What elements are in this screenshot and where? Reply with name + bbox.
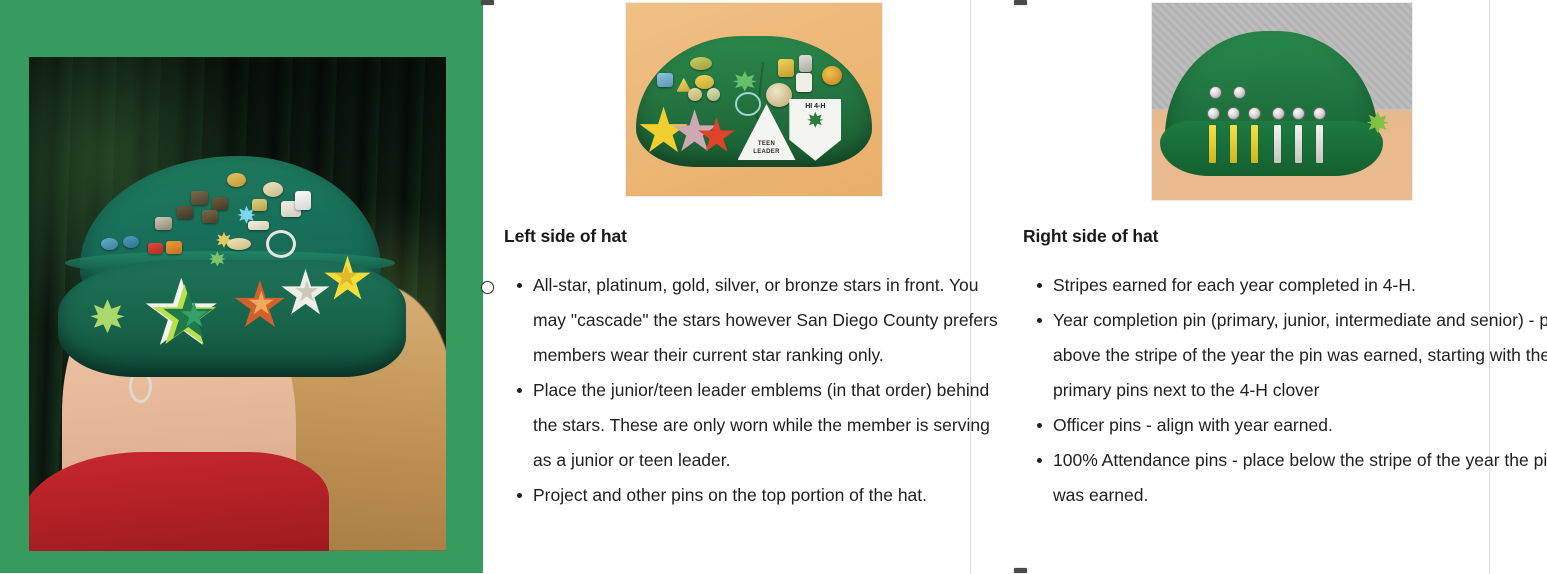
stripe-year-6 bbox=[1316, 125, 1323, 163]
shield-clover-icon bbox=[807, 112, 823, 128]
clover-pin-center bbox=[733, 71, 757, 91]
selection-handle-top-middle[interactable] bbox=[1014, 0, 1027, 5]
pin-white-clover-card bbox=[796, 73, 812, 92]
photo-4h-hat bbox=[58, 156, 417, 373]
pin-bronze-2 bbox=[212, 197, 228, 210]
hi-4h-shield-emblem: HI 4-H bbox=[789, 99, 841, 161]
pin-medal-cream bbox=[263, 182, 283, 197]
pin-orange-round bbox=[822, 66, 842, 85]
slide-page: TEEN LEADER HI 4-H Left side of hat All-… bbox=[0, 0, 1547, 574]
stripe-year-2 bbox=[1230, 125, 1237, 163]
pin-bronze-4 bbox=[202, 210, 218, 223]
teen-leader-line1: TEEN bbox=[758, 140, 775, 149]
shield-label: HI 4-H bbox=[805, 103, 825, 110]
list-item: Year completion pin (primary, junior, in… bbox=[1053, 303, 1547, 408]
pin-white-rect bbox=[799, 55, 812, 72]
pin-medal-gold bbox=[227, 173, 246, 187]
hero-photo-girl-wearing-hat[interactable] bbox=[29, 57, 446, 551]
pin-white-card bbox=[295, 191, 311, 210]
pin-bar-white bbox=[248, 221, 269, 230]
beret-band-right bbox=[1160, 121, 1384, 176]
stripe-year-5 bbox=[1295, 125, 1302, 163]
pin-primary-2 bbox=[1233, 86, 1246, 99]
pin-blue-patch bbox=[657, 73, 673, 87]
column-left-side-of-hat: TEEN LEADER HI 4-H Left side of hat All-… bbox=[487, 0, 1007, 574]
list-item: 100% Attendance pins - place below the s… bbox=[1053, 443, 1547, 513]
teen-leader-line2: LEADER bbox=[753, 148, 779, 157]
pin-medallion bbox=[766, 83, 792, 107]
pin-year-completion-1 bbox=[1207, 107, 1220, 120]
bullet-list-left: All-star, platinum, gold, silver, or bro… bbox=[499, 268, 1013, 513]
stripe-year-4 bbox=[1274, 125, 1281, 163]
list-item: Place the junior/teen leader emblems (in… bbox=[533, 373, 1013, 478]
pin-ring-white bbox=[266, 230, 296, 258]
pin-cream-round-1 bbox=[688, 88, 702, 101]
heading-right-side-of-hat: Right side of hat bbox=[1023, 226, 1158, 247]
photo-red-shirt bbox=[29, 452, 329, 551]
list-item: All-star, platinum, gold, silver, or bro… bbox=[533, 268, 1013, 373]
pin-silver-1 bbox=[155, 217, 172, 230]
pin-gold-rect bbox=[778, 59, 794, 77]
list-item: Project and other pins on the top portio… bbox=[533, 478, 1013, 513]
pin-orange bbox=[166, 241, 182, 254]
pin-bronze-3 bbox=[177, 206, 193, 219]
photo-right-side-of-hat[interactable] bbox=[1152, 3, 1412, 200]
pin-olive-oval bbox=[690, 57, 712, 70]
selection-handle-top-left[interactable] bbox=[481, 0, 494, 5]
pin-cream-round-2 bbox=[707, 88, 720, 101]
pin-yellow-round bbox=[695, 75, 714, 89]
selection-handle-bottom-middle[interactable] bbox=[1014, 568, 1027, 573]
list-item: Stripes earned for each year completed i… bbox=[1053, 268, 1547, 303]
pin-red bbox=[148, 243, 163, 254]
stripe-year-1 bbox=[1209, 125, 1216, 163]
star-red bbox=[697, 117, 735, 155]
pin-blue-2 bbox=[123, 236, 139, 248]
heading-left-side-of-hat: Left side of hat bbox=[504, 226, 627, 247]
green-photo-panel bbox=[0, 0, 483, 573]
bullet-list-right: Stripes earned for each year completed i… bbox=[1019, 268, 1547, 513]
pin-bronze-1 bbox=[191, 191, 208, 205]
photo-left-side-of-hat[interactable]: TEEN LEADER HI 4-H bbox=[626, 3, 882, 196]
stripe-year-3 bbox=[1251, 125, 1258, 163]
pin-year-completion-4 bbox=[1272, 107, 1285, 120]
selection-handle-middle-left[interactable] bbox=[481, 281, 494, 294]
pin-gold-small bbox=[252, 199, 267, 211]
pin-primary-1 bbox=[1209, 86, 1222, 99]
column-right-side-of-hat: Right side of hat Stripes earned for eac… bbox=[1007, 0, 1547, 574]
list-item: Officer pins - align with year earned. bbox=[1053, 408, 1547, 443]
text-content-area: TEEN LEADER HI 4-H Left side of hat All-… bbox=[483, 0, 1547, 574]
